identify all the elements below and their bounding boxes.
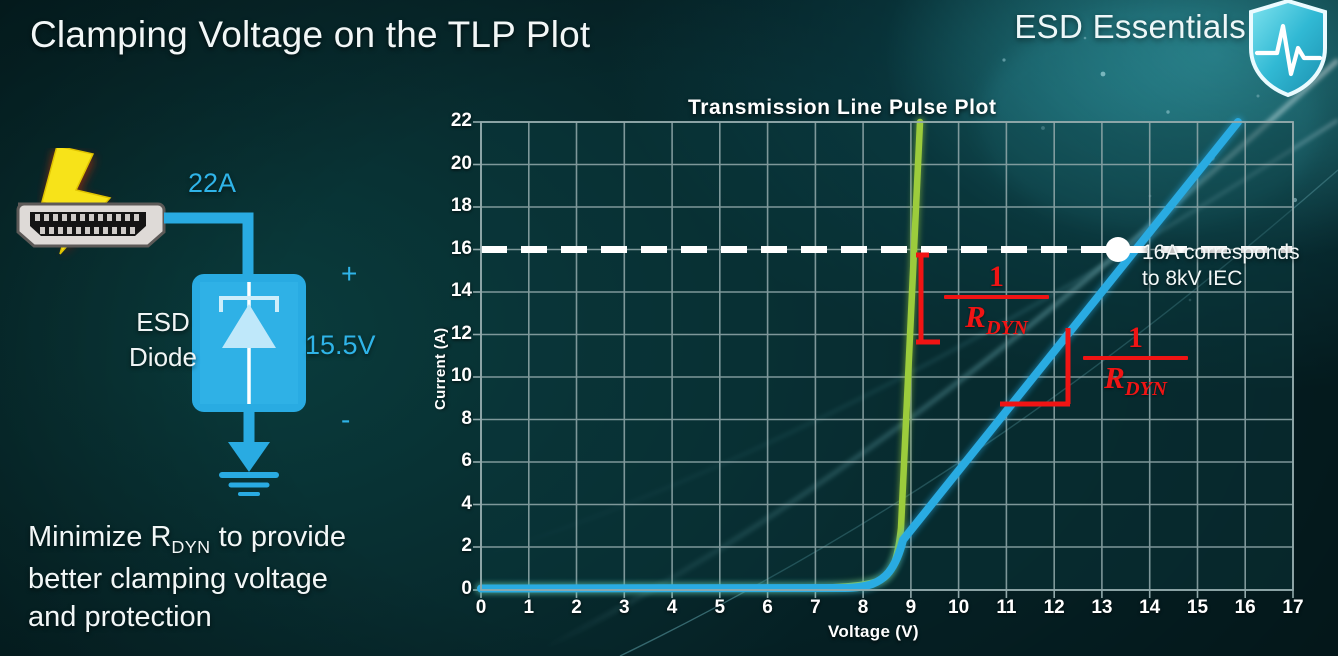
- x-tick: 15: [1178, 597, 1218, 619]
- slope-label-high-rdyn: 1 RDYN: [1083, 323, 1188, 400]
- slope-numerator: 1: [944, 262, 1049, 292]
- x-tick: 10: [939, 597, 979, 619]
- y-tick: 2: [432, 535, 472, 557]
- slope-denominator: RDYN: [1083, 362, 1188, 400]
- x-tick: 0: [461, 597, 501, 619]
- slope-numerator: 1: [1083, 323, 1188, 353]
- x-tick: 7: [795, 597, 835, 619]
- x-tick: 3: [604, 597, 644, 619]
- x-tick: 1: [509, 597, 549, 619]
- note-line-1: 16A corresponds: [1142, 241, 1300, 264]
- x-tick: 6: [748, 597, 788, 619]
- fraction-bar: [1083, 356, 1188, 360]
- x-tick: 11: [986, 597, 1026, 619]
- operating-point-dot: [1106, 237, 1131, 262]
- x-tick: 12: [1034, 597, 1074, 619]
- y-tick: 20: [432, 153, 472, 175]
- y-axis-title: Current (A): [432, 328, 449, 410]
- y-tick: 22: [432, 110, 472, 132]
- y-tick: 6: [432, 450, 472, 472]
- slope-label-low-rdyn: 1 RDYN: [944, 262, 1049, 339]
- slope-denominator: RDYN: [944, 301, 1049, 339]
- y-axis-ticks: [473, 122, 481, 590]
- y-tick: 4: [432, 493, 472, 515]
- x-tick: 14: [1130, 597, 1170, 619]
- x-tick: 9: [891, 597, 931, 619]
- operating-point-note: 16A corresponds to 8kV IEC: [1142, 240, 1300, 293]
- y-tick: 14: [432, 280, 472, 302]
- x-tick: 16: [1225, 597, 1265, 619]
- y-tick: 18: [432, 195, 472, 217]
- x-tick: 4: [652, 597, 692, 619]
- fraction-bar: [944, 295, 1049, 299]
- x-tick: 8: [843, 597, 883, 619]
- slide-root: Clamping Voltage on the TLP Plot ESD Ess…: [0, 0, 1338, 656]
- y-tick: 8: [432, 408, 472, 430]
- y-tick: 16: [432, 238, 472, 260]
- note-line-2: to 8kV IEC: [1142, 267, 1242, 290]
- x-axis-tick-labels: 0 1 2 3 4 5 6 7 8 9 10 11 12 13 14 15 16…: [0, 597, 1338, 623]
- x-axis-title: Voltage (V): [828, 622, 919, 642]
- x-tick: 2: [557, 597, 597, 619]
- x-tick: 13: [1082, 597, 1122, 619]
- y-axis-title-wrap: Current (A): [437, 410, 438, 411]
- x-tick: 17: [1273, 597, 1313, 619]
- x-tick: 5: [700, 597, 740, 619]
